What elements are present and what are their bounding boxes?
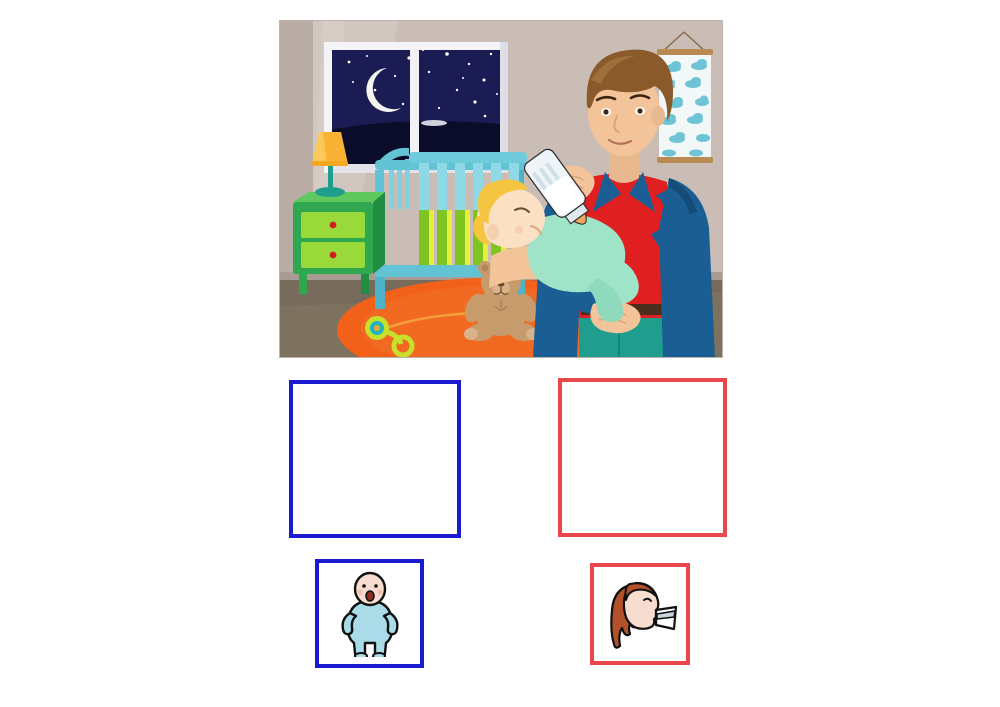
person-drinking-pictogram-icon	[600, 574, 680, 654]
dropzone-blue[interactable]	[289, 380, 461, 538]
dropzone-red[interactable]	[558, 378, 727, 537]
worksheet-stage	[0, 0, 1000, 707]
scene-illustration	[279, 20, 723, 358]
card-baby[interactable]	[315, 559, 424, 668]
card-drink[interactable]	[590, 563, 690, 665]
baby-pictogram-icon	[329, 571, 411, 657]
